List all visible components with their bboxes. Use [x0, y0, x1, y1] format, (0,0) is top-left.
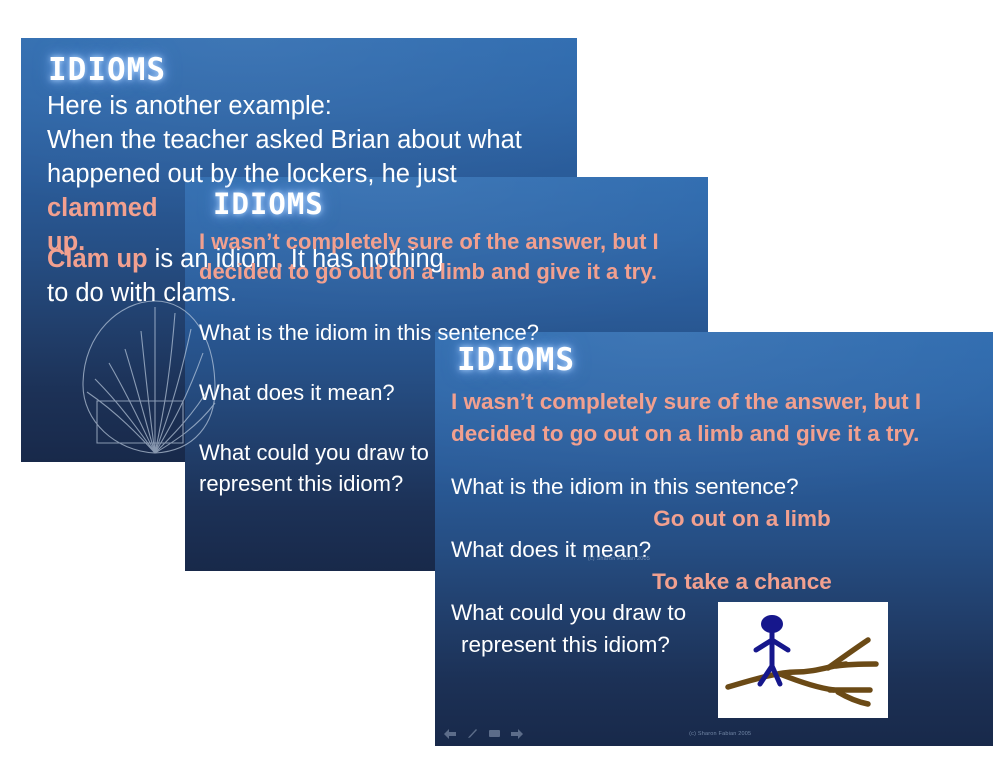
slide-3-answer-2: To take a chance: [451, 566, 981, 598]
rectangle-icon[interactable]: [488, 728, 501, 739]
slide-2-copyright: (c) Sharon Fabian 2005: [588, 556, 650, 562]
slide-2-question-1: What is the idiom in this sentence?: [199, 318, 699, 348]
slide-3[interactable]: IDIOMS I wasn’t completely sure of the a…: [435, 332, 993, 746]
slide-stack: IDIOMS Here is another example: When the…: [0, 0, 1008, 768]
slide-3-answer-1: Go out on a limb: [451, 503, 981, 535]
slide-3-sentence-line-2: decided to go out on a limb and give it …: [451, 418, 981, 450]
slide-3-title: IDIOMS: [457, 342, 575, 378]
stick-figure-head: [761, 615, 783, 633]
spacer: [451, 449, 981, 471]
pen-icon[interactable]: [466, 727, 479, 740]
slide-1-line-5-accent: Clam up: [47, 245, 148, 273]
stick-figure-on-limb-drawing: [718, 602, 888, 718]
slide-1-title: IDIOMS: [48, 52, 166, 88]
slide-3-copyright: (c) Sharon Fabian 2005: [689, 731, 751, 737]
slide-1-line-3-plain: happened out by the lockers, he just: [47, 160, 457, 188]
slide-3-body: I wasn’t completely sure of the answer, …: [451, 386, 981, 660]
slide-1-line-2: When the teacher asked Brian about what: [47, 124, 567, 158]
slide-2-title: IDIOMS: [213, 187, 324, 221]
arrow-right-icon[interactable]: [510, 728, 524, 740]
slide-3-question-3-line-1: What could you draw to: [451, 597, 981, 629]
presenter-navbar[interactable]: [443, 727, 524, 740]
slide-1-line-3-accent: clammed: [47, 194, 158, 222]
slide-3-question-2: What does it mean?: [451, 534, 981, 566]
limb-drawing-svg: [718, 602, 888, 718]
slide-1-line-1: Here is another example:: [47, 90, 567, 124]
slide-3-sentence-line-1: I wasn’t completely sure of the answer, …: [451, 386, 981, 418]
slide-2-sentence-line-2: decided to go out on a limb and give it …: [199, 257, 699, 287]
arrow-left-icon[interactable]: [443, 728, 457, 740]
slide-2-sentence-line-1: I wasn’t completely sure of the answer, …: [199, 227, 699, 257]
slide-3-question-3-line-2: represent this idiom?: [451, 629, 981, 661]
slide-3-question-1: What is the idiom in this sentence?: [451, 471, 981, 503]
